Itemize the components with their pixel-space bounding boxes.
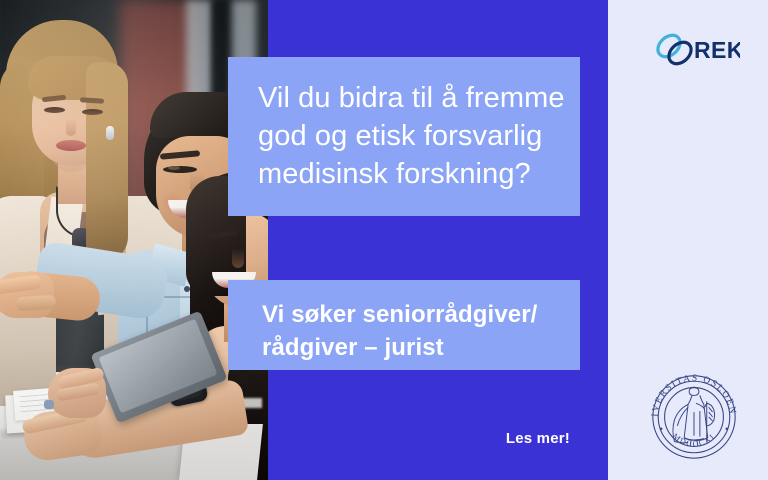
woman-ring xyxy=(44,400,54,409)
headline-line-1: Vil du bidra til å fremme xyxy=(258,79,554,117)
uio-seal-dot-right xyxy=(726,427,729,430)
man-eye-highlight xyxy=(168,166,180,170)
woman-blonde-hair-right xyxy=(86,62,128,262)
uio-seal: UNIVERSITAS OSLOENSIS MDCCCXI xyxy=(645,368,743,466)
woman2-nose xyxy=(232,248,244,268)
woman-earring xyxy=(106,126,114,140)
woman-eye-left xyxy=(44,107,65,113)
uio-seal-outer-text: UNIVERSITAS OSLOENSIS xyxy=(645,368,737,417)
uio-seal-dot-left xyxy=(660,427,663,430)
rek-logo[interactable]: REK xyxy=(650,26,740,72)
uio-seal-svg: UNIVERSITAS OSLOENSIS MDCCCXI xyxy=(645,368,743,466)
woman-nose xyxy=(66,118,76,136)
read-more-link[interactable]: Les mer! xyxy=(380,430,570,447)
job-advert-banner: Vil du bidra til å fremme god og etisk f… xyxy=(0,0,768,480)
job-title-line-2: rådgiver – jurist xyxy=(262,331,560,364)
headline-question-box: Vil du bidra til å fremme god og etisk f… xyxy=(228,57,580,216)
rek-logo-svg: REK xyxy=(650,26,740,72)
job-title-box: Vi søker seniorrådgiver/ rådgiver – juri… xyxy=(228,280,580,370)
headline-line-2: god og etisk forsvarlig xyxy=(258,117,554,155)
rek-logo-mark xyxy=(654,31,696,68)
rek-wordmark: REK xyxy=(694,37,740,63)
woman-lips xyxy=(56,140,86,151)
woman-eye-right xyxy=(82,109,103,115)
job-title-line-1: Vi søker seniorrådgiver/ xyxy=(262,298,560,331)
headline-line-3: medisinsk forskning? xyxy=(258,155,554,193)
man-knuckles xyxy=(16,295,57,312)
